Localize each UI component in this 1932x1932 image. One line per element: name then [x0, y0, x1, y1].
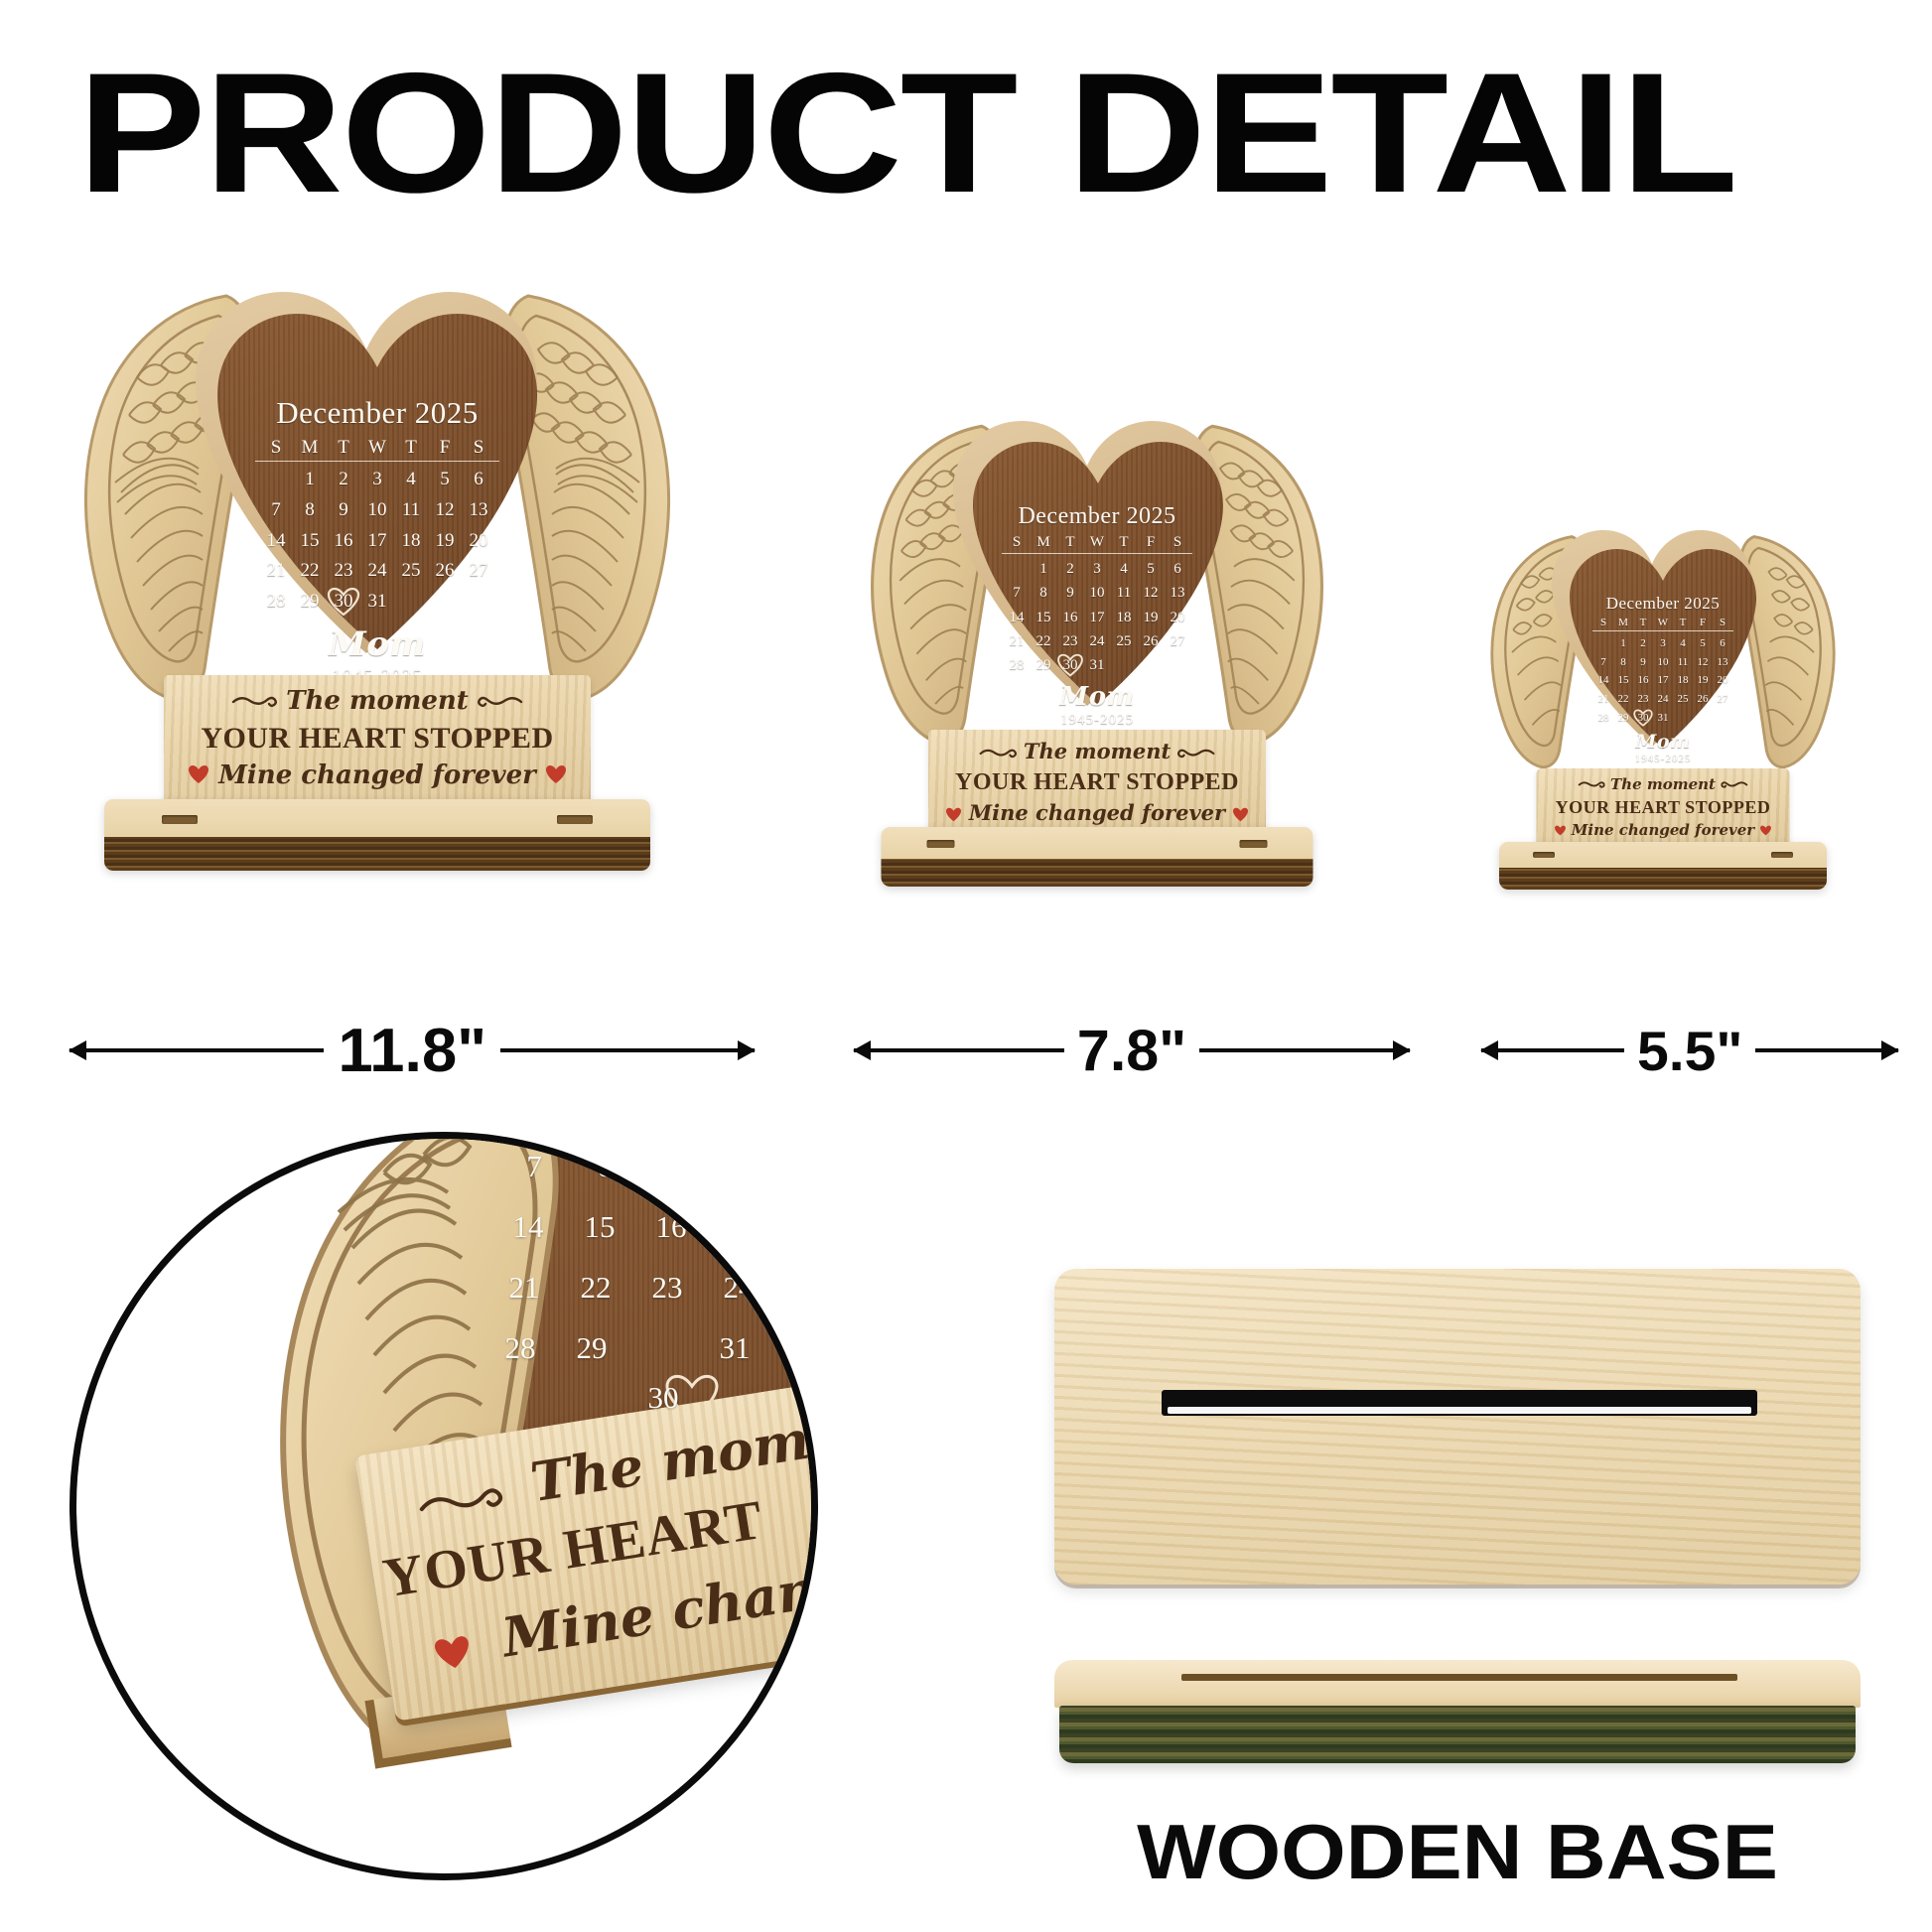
calendar-day: 4	[1111, 557, 1138, 581]
calendar-day: 16	[1633, 671, 1653, 690]
heart-icon	[1232, 802, 1249, 827]
calendar-days: 1 2 3 4 5 6 78910111213 14151617181920 2…	[1004, 557, 1191, 677]
calendar-day: 8	[1031, 581, 1057, 605]
calendar-day: 11	[394, 495, 428, 526]
calendar-day: 14	[259, 526, 293, 557]
calendar-day: 2	[327, 465, 360, 495]
calendar-day	[1004, 557, 1031, 581]
plaque-line-2: YOUR HEART STOPPED	[164, 722, 591, 756]
calendar-day	[462, 587, 495, 618]
calendar-day: 15	[579, 1209, 621, 1245]
calendar-day: 19	[1138, 606, 1165, 629]
calendar-day: 1	[1031, 557, 1057, 581]
calendar-day: 23	[1633, 690, 1653, 709]
calendar-engraving: December 2025 S M T W T F S 123456 78	[1574, 594, 1752, 764]
calendar-day: 21	[259, 556, 293, 587]
calendar-weekday: M	[1613, 617, 1633, 628]
calendar-day: 13	[1713, 653, 1732, 672]
table-row: 21 22 23 24 25 26 27	[259, 556, 495, 587]
calendar-day: 29	[571, 1330, 613, 1416]
calendar-header-row: S M T W T F S	[1593, 617, 1732, 628]
wooden-stand-base	[1499, 842, 1827, 890]
calendar-day: 10	[360, 495, 394, 526]
stand-slot-left	[927, 840, 955, 848]
calendar-day: 27	[1713, 690, 1732, 709]
heart-icon	[188, 761, 209, 791]
calendar-day: 28	[259, 587, 293, 618]
calendar-day: 18	[394, 526, 428, 557]
wooden-stand-base	[882, 827, 1313, 887]
detail-plaque-text-1: The mom	[526, 1408, 813, 1514]
calendar-day: 4	[1673, 634, 1693, 653]
dimension-label-medium: 7.8"	[1077, 1018, 1186, 1084]
flourish-left-icon	[231, 687, 277, 717]
plywood-edge	[882, 859, 1313, 887]
stand-slot-right	[1771, 852, 1793, 858]
calendar-day: 1	[293, 465, 327, 495]
calendar-day: 7	[1004, 581, 1031, 605]
calendar-day: 31	[1084, 653, 1111, 677]
calendar-day	[259, 465, 293, 495]
engraved-name: Mom	[1574, 731, 1752, 753]
dimension-small: 5.5"	[1481, 1031, 1898, 1070]
stand-slot-left	[162, 815, 198, 824]
calendar-day	[1593, 634, 1613, 653]
stand-slot-right	[557, 815, 593, 824]
table-row: 14151617181920	[1593, 671, 1732, 690]
calendar-day: 31	[1653, 709, 1673, 728]
calendar-divider	[1592, 630, 1733, 631]
calendar-day: 18	[1673, 671, 1693, 690]
calendar-engraving: December 2025 S M T W T F S 1 2 3	[979, 503, 1215, 729]
calendar-day: 15	[293, 526, 327, 557]
calendar-month-year: December 2025	[228, 395, 526, 431]
calendar-day: 24	[1084, 629, 1111, 653]
calendar-day: 9	[1633, 653, 1653, 672]
calendar-day: 19	[428, 526, 462, 557]
product-figure-large: December 2025 S M T W T F S 1 2 3	[60, 278, 695, 1013]
table-row: 1 2 3 4 5 6	[1004, 557, 1191, 581]
calendar-day: 3	[360, 465, 394, 495]
calendar-day: 14	[1593, 671, 1613, 690]
detail-calendar-row: 14 15 16	[507, 1209, 818, 1245]
calendar-weekday: T	[1057, 534, 1084, 551]
wooden-base-plywood-edge	[1059, 1706, 1856, 1763]
calendar-day: 8	[293, 495, 327, 526]
calendar-day: 22	[1613, 690, 1633, 709]
calendar-day: 12	[1138, 581, 1165, 605]
plaque-line-3: Mine changed forever	[1537, 821, 1790, 840]
calendar-day: 26	[1693, 690, 1713, 709]
table-row: 21222324252627	[1004, 629, 1191, 653]
calendar-day	[1111, 653, 1138, 677]
wooden-base-caption: WOODEN BASE	[1023, 1807, 1893, 1897]
calendar-weekday: S	[1593, 617, 1613, 628]
calendar-grid: S M T W T F S	[259, 437, 495, 459]
calendar-day: 23	[646, 1270, 688, 1306]
calendar-day	[1693, 709, 1713, 728]
calendar-day-number: 30	[1638, 712, 1649, 724]
calendar-day: 12	[1693, 653, 1713, 672]
calendar-day-number: 30	[648, 1380, 679, 1415]
calendar-day: 27	[462, 556, 495, 587]
calendar-day: 22	[575, 1270, 617, 1306]
calendar-day: 14	[1004, 606, 1031, 629]
calendar-day: 7	[259, 495, 293, 526]
calendar-day: 26	[428, 556, 462, 587]
calendar-day: 2	[1057, 557, 1084, 581]
plaque-text-1: The moment	[1610, 775, 1716, 793]
calendar-day: 11	[1111, 581, 1138, 605]
calendar-weekday: T	[1633, 617, 1653, 628]
calendar-weekday: M	[293, 437, 327, 459]
plaque-line-2: YOUR HEART STOPPED	[928, 769, 1266, 796]
calendar-day: 22	[1031, 629, 1057, 653]
calendar-day: 20	[1165, 606, 1191, 629]
calendar-day: 5	[428, 465, 462, 495]
dimension-medium: 7.8"	[854, 1031, 1410, 1070]
calendar-header-row: S M T W T F S	[259, 437, 495, 459]
calendar-day-number: 30	[1063, 657, 1078, 673]
calendar-day-highlighted: 30	[1057, 653, 1084, 677]
calendar-day: 19	[1693, 671, 1713, 690]
calendar-day: 17	[360, 526, 394, 557]
calendar-day-highlighted: 30	[327, 587, 360, 618]
table-row: 78910111213	[1004, 581, 1191, 605]
calendar-day: 16	[1057, 606, 1084, 629]
calendar-day: 17	[1084, 606, 1111, 629]
calendar-day: 28	[1593, 709, 1613, 728]
product-figure-medium: December 2025 S M T W T F S 1 2 3	[854, 412, 1340, 1013]
flourish-left-icon	[1579, 776, 1605, 794]
calendar-weekday: S	[259, 437, 293, 459]
calendar-day: 5	[1693, 634, 1713, 653]
calendar-grid: S M T W T F S	[1004, 534, 1191, 551]
calendar-month-year: December 2025	[1574, 594, 1752, 614]
calendar-day: 21	[1004, 629, 1031, 653]
heart-icon	[1759, 822, 1771, 840]
calendar-day: 24	[718, 1270, 759, 1306]
calendar-divider	[255, 461, 499, 462]
table-row: 14 15 16 17 18 19 20	[259, 526, 495, 557]
table-row: 14151617181920	[1004, 606, 1191, 629]
dimension-label-large: 11.8"	[338, 1016, 486, 1086]
calendar-day: 14	[507, 1209, 549, 1245]
plaque-text-3: Mine changed forever	[218, 760, 536, 790]
plaque-line-1: The moment	[1537, 775, 1790, 794]
table-row: 7 8 9 10 11 12 13	[259, 495, 495, 526]
calendar-day: 3	[1653, 634, 1673, 653]
wooden-base-slot-side	[1181, 1674, 1737, 1681]
plaque-text-1: The moment	[1024, 739, 1171, 763]
calendar-day: 25	[394, 556, 428, 587]
stand-slot-right	[1240, 840, 1268, 848]
calendar-day: 17	[1653, 671, 1673, 690]
calendar-day: 22	[293, 556, 327, 587]
engraved-name: Mom	[228, 624, 526, 664]
product-figure-small: December 2025 S M T W T F S 123456 78	[1479, 526, 1847, 1013]
calendar-weekday: W	[360, 437, 394, 459]
calendar-day-highlighted: 30	[642, 1330, 684, 1416]
calendar-day: 12	[428, 495, 462, 526]
wooden-base-top-face	[1054, 1660, 1861, 1708]
calendar-day: 21	[1593, 690, 1613, 709]
calendar-day: 15	[1031, 606, 1057, 629]
calendar-day: 10	[1653, 653, 1673, 672]
flourish-right-icon	[1177, 741, 1215, 765]
plywood-edge	[104, 837, 650, 871]
calendar-day-number: 30	[335, 591, 353, 612]
table-row: 123456	[1593, 634, 1732, 653]
message-plaque: The moment YOUR HEART STOPPED Mine chang…	[164, 675, 591, 814]
calendar-engraving: December 2025 S M T W T F S 1 2 3	[228, 395, 526, 688]
calendar-weekday: T	[1673, 617, 1693, 628]
flourish-left-icon	[413, 1461, 507, 1538]
plaque-text-3: Mine changed forever	[969, 800, 1225, 825]
calendar-day: 23	[327, 556, 360, 587]
calendar-day: 6	[1165, 557, 1191, 581]
heart-icon	[945, 802, 962, 827]
detail-zoom-circle: 7 8 14 15 16 21 22 23 24 28 29	[69, 1132, 818, 1880]
calendar-weekday: W	[1084, 534, 1111, 551]
wooden-stand-base	[104, 799, 650, 871]
message-plaque: The moment YOUR HEART STOPPED Mine chang…	[1537, 768, 1790, 851]
flourish-left-icon	[979, 741, 1017, 765]
plaque-text-1: The moment	[286, 686, 469, 716]
calendar-weekday: F	[1693, 617, 1713, 628]
wooden-base-top-view	[1054, 1269, 1861, 1585]
detail-calendar-row: 21 22 23 24	[503, 1270, 818, 1306]
table-row: 28 29 30 31	[259, 587, 495, 618]
wooden-base-side-view	[1054, 1660, 1861, 1767]
plaque-line-2: YOUR HEART STOPPED	[1537, 797, 1790, 818]
plaque-line-1: The moment	[928, 739, 1266, 765]
heart-icon	[1555, 822, 1567, 840]
flourish-right-icon	[1721, 776, 1747, 794]
calendar-day: 8	[1613, 653, 1633, 672]
calendar-day: 29	[1613, 709, 1633, 728]
calendar-weekday: W	[1653, 617, 1673, 628]
engraved-name: Mom	[979, 682, 1215, 712]
plaque-line-3: Mine changed forever	[928, 800, 1266, 827]
calendar-day: 28	[499, 1330, 541, 1416]
calendar-month-year: December 2025	[979, 503, 1215, 530]
calendar-day: 24	[1653, 690, 1673, 709]
calendar-day: 24	[360, 556, 394, 587]
calendar-day	[428, 587, 462, 618]
calendar-day: 1	[1613, 634, 1633, 653]
calendar-grid: S M T W T F S	[1593, 617, 1732, 628]
calendar-divider	[1002, 553, 1192, 554]
page-title: PRODUCT DETAIL	[77, 48, 1932, 218]
table-row: 28 29 30 31	[1004, 653, 1191, 677]
heart-icon	[545, 761, 567, 791]
calendar-weekday: M	[1031, 534, 1057, 551]
table-row: 78910111213	[1593, 653, 1732, 672]
calendar-day: 11	[1673, 653, 1693, 672]
calendar-day	[1165, 653, 1191, 677]
table-row: 1 2 3 4 5 6	[259, 465, 495, 495]
calendar-day	[394, 587, 428, 618]
plaque-line-3: Mine changed forever	[164, 760, 591, 791]
calendar-day: 7	[513, 1149, 555, 1184]
table-row: 21222324252627	[1593, 690, 1732, 709]
calendar-day: 16	[327, 526, 360, 557]
flourish-right-icon	[478, 687, 523, 717]
calendar-day: 6	[1713, 634, 1732, 653]
calendar-weekday: T	[394, 437, 428, 459]
calendar-weekday: F	[428, 437, 462, 459]
calendar-day: 29	[1031, 653, 1057, 677]
calendar-day: 21	[503, 1270, 545, 1306]
message-plaque: The moment YOUR HEART STOPPED Mine chang…	[928, 730, 1266, 839]
calendar-day: 8	[585, 1149, 626, 1184]
calendar-day: 25	[1673, 690, 1693, 709]
calendar-day: 9	[1057, 581, 1084, 605]
calendar-day-highlighted: 30	[1633, 709, 1653, 728]
calendar-day: 28	[1004, 653, 1031, 677]
calendar-day	[1138, 653, 1165, 677]
calendar-day: 4	[394, 465, 428, 495]
calendar-day: 26	[1138, 629, 1165, 653]
calendar-days: 1 2 3 4 5 6 7 8 9 10 11 12 13 14	[259, 465, 495, 618]
calendar-day: 3	[1084, 557, 1111, 581]
plaque-line-1: The moment	[164, 686, 591, 717]
calendar-day	[1713, 709, 1732, 728]
calendar-day: 25	[1111, 629, 1138, 653]
plaque-text-3: Mine changed forever	[1572, 821, 1754, 839]
calendar-day: 15	[1613, 671, 1633, 690]
heart-icon	[429, 1616, 477, 1685]
calendar-day: 10	[1084, 581, 1111, 605]
calendar-weekday: S	[1165, 534, 1191, 551]
calendar-day: 23	[1057, 629, 1084, 653]
calendar-weekday: T	[327, 437, 360, 459]
calendar-day: 9	[327, 495, 360, 526]
calendar-header-row: S M T W T F S	[1004, 534, 1191, 551]
plywood-edge	[1499, 868, 1827, 890]
calendar-weekday: S	[462, 437, 495, 459]
calendar-day: 6	[462, 465, 495, 495]
calendar-day: 13	[462, 495, 495, 526]
dimension-large: 11.8"	[69, 1031, 755, 1070]
calendar-day: 5	[1138, 557, 1165, 581]
calendar-day: 20	[1713, 671, 1732, 690]
calendar-weekday: F	[1138, 534, 1165, 551]
calendar-day: 29	[293, 587, 327, 618]
detail-calendar-row: 7 8	[513, 1149, 818, 1184]
calendar-day: 16	[650, 1209, 692, 1245]
calendar-day: 2	[1633, 634, 1653, 653]
calendar-weekday: S	[1004, 534, 1031, 551]
calendar-day	[1673, 709, 1693, 728]
stand-slot-left	[1533, 852, 1555, 858]
table-row: 28 29 30 31	[1593, 709, 1732, 728]
calendar-day: 27	[1165, 629, 1191, 653]
calendar-day: 31	[360, 587, 394, 618]
engraved-years: 1945-2025	[1574, 753, 1752, 764]
wooden-base-slot	[1162, 1390, 1757, 1416]
calendar-day: 7	[1593, 653, 1613, 672]
engraved-years: 1945-2025	[979, 712, 1215, 729]
dimension-label-small: 5.5"	[1637, 1019, 1742, 1083]
calendar-weekday: T	[1111, 534, 1138, 551]
calendar-day: 18	[1111, 606, 1138, 629]
calendar-day: 13	[1165, 581, 1191, 605]
calendar-days: 123456 78910111213 14151617181920 212223…	[1593, 634, 1732, 727]
calendar-weekday: S	[1713, 617, 1732, 628]
calendar-day: 20	[462, 526, 495, 557]
